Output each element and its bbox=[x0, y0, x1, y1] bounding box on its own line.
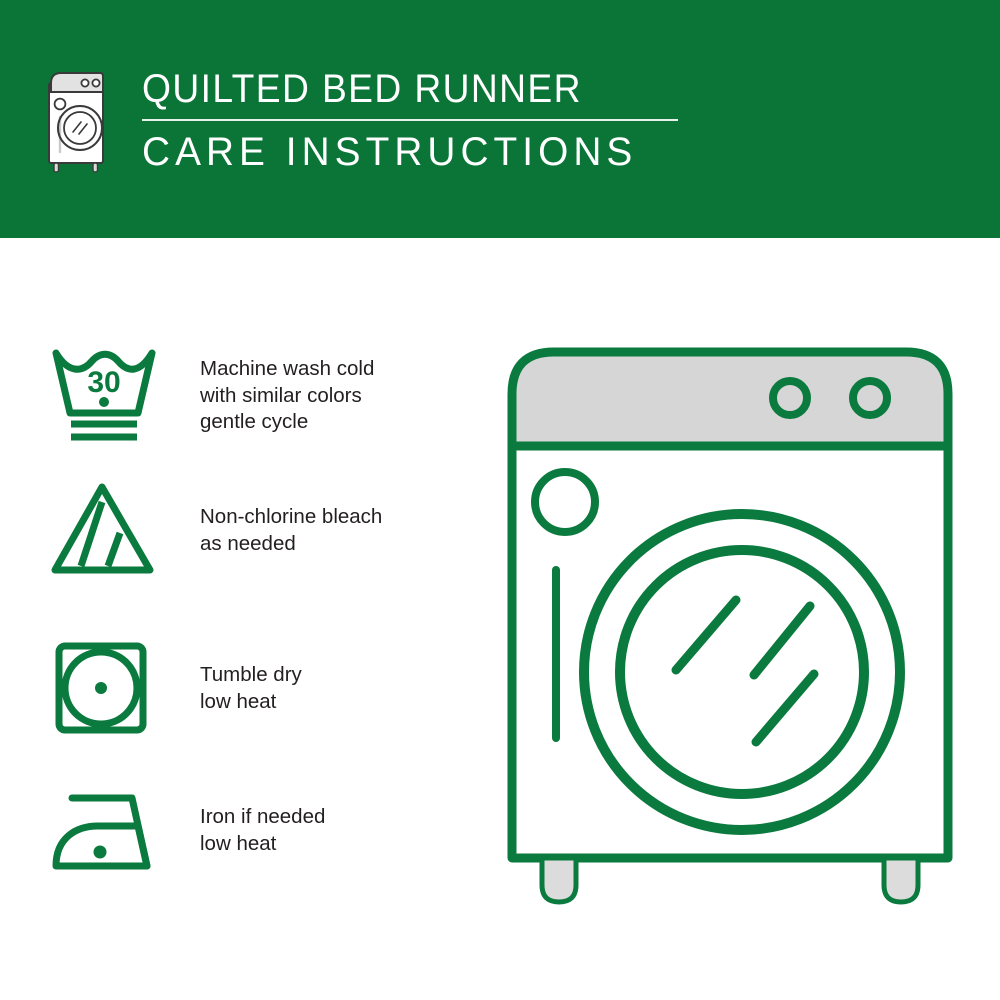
care-text-line: Tumble dry bbox=[200, 662, 302, 689]
care-row-wash: 30 Machine wash cold with similar colors… bbox=[50, 342, 450, 446]
care-row-tumble-dry: Tumble dry low heat bbox=[50, 636, 450, 740]
drum-streak bbox=[676, 600, 736, 670]
iron-icon bbox=[50, 778, 158, 882]
page-subtitle: CARE INSTRUCTIONS bbox=[142, 129, 685, 175]
control-panel bbox=[512, 352, 948, 446]
washing-machine-icon bbox=[44, 66, 110, 174]
title-divider bbox=[142, 119, 678, 121]
front-load-washing-machine-illustration bbox=[490, 330, 970, 940]
drum-streak bbox=[756, 674, 814, 742]
care-text-line: Iron if needed bbox=[200, 804, 325, 831]
care-text-tumble-dry: Tumble dry low heat bbox=[200, 636, 302, 715]
header-banner: QUILTED BED RUNNER CARE INSTRUCTIONS bbox=[0, 0, 1000, 238]
drum-outer-ring bbox=[584, 514, 900, 830]
care-text-line: low heat bbox=[200, 831, 325, 858]
wash-temperature-label: 30 bbox=[87, 366, 120, 399]
machine-leg bbox=[542, 858, 576, 902]
care-text-line: as needed bbox=[200, 531, 382, 558]
care-text-line: Non-chlorine bleach bbox=[200, 504, 382, 531]
header-title-group: QUILTED BED RUNNER CARE INSTRUCTIONS bbox=[142, 66, 702, 175]
machine-wash-basin-icon: 30 bbox=[50, 342, 158, 446]
drum-streak bbox=[754, 606, 810, 675]
care-text-iron: Iron if needed low heat bbox=[200, 778, 325, 857]
care-instructions-infographic: QUILTED BED RUNNER CARE INSTRUCTIONS 30 bbox=[0, 0, 1000, 1000]
care-text-line: Machine wash cold bbox=[200, 356, 374, 383]
care-instruction-list: 30 Machine wash cold with similar colors… bbox=[0, 238, 470, 1000]
care-text-bleach: Non-chlorine bleach as needed bbox=[200, 478, 382, 557]
page-title: QUILTED BED RUNNER bbox=[142, 66, 663, 112]
care-row-iron: Iron if needed low heat bbox=[50, 778, 450, 882]
tumble-dry-square-icon bbox=[50, 636, 158, 740]
non-chlorine-bleach-triangle-icon bbox=[50, 478, 158, 582]
care-text-line: gentle cycle bbox=[200, 409, 374, 436]
care-row-bleach: Non-chlorine bleach as needed bbox=[50, 478, 450, 582]
care-text-line: with similar colors bbox=[200, 383, 374, 410]
care-text-line: low heat bbox=[200, 689, 302, 716]
care-text-wash: Machine wash cold with similar colors ge… bbox=[200, 342, 374, 436]
machine-leg bbox=[884, 858, 918, 902]
dial-circle bbox=[535, 472, 595, 532]
drum-inner-ring bbox=[620, 550, 864, 794]
